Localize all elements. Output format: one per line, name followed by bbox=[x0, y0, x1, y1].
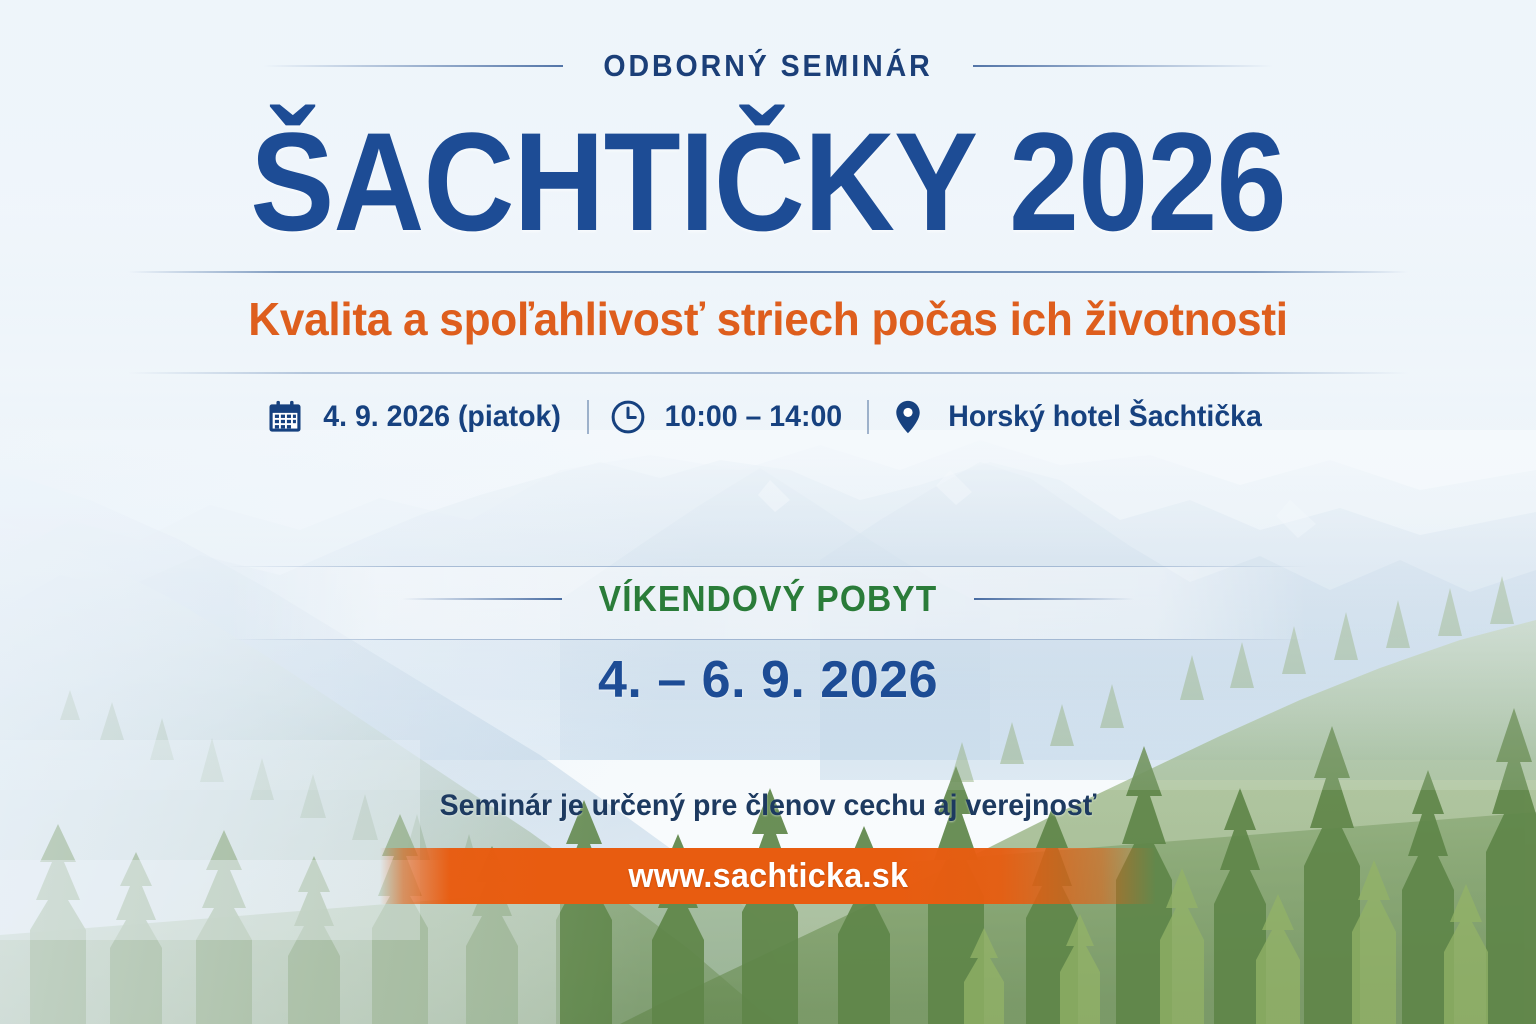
poster-content: ODBORNÝ SEMINÁR ŠACHTIČKY 2026 Kvalita a… bbox=[0, 0, 1536, 1024]
weekend-label-row: VÍKENDOVÝ POBYT bbox=[0, 578, 1536, 620]
event-date-text: 4. 9. 2026 (piatok) bbox=[323, 400, 561, 434]
page-title: ŠACHTIČKY 2026 bbox=[77, 112, 1459, 252]
event-info-row: 4. 9. 2026 (piatok) 10:00 – 14:00 bbox=[0, 398, 1536, 436]
weekend-dates: 4. – 6. 9. 2026 bbox=[0, 650, 1536, 710]
event-date-item: 4. 9. 2026 (piatok) bbox=[266, 398, 567, 436]
subtitle: Kvalita a spoľahlivosť striech počas ich… bbox=[31, 292, 1506, 346]
clock-icon bbox=[609, 398, 647, 436]
weekend-rule-left bbox=[402, 598, 562, 600]
eyebrow-row: ODBORNÝ SEMINÁR bbox=[0, 48, 1536, 84]
event-time-item: 10:00 – 14:00 bbox=[609, 398, 847, 436]
event-venue-item: Horský hotel Šachtička bbox=[889, 398, 1270, 436]
map-pin-icon bbox=[889, 398, 927, 436]
website-url-text: www.sachticka.sk bbox=[628, 857, 908, 896]
audience-note: Seminár je určený pre členov cechu aj ve… bbox=[38, 789, 1497, 823]
divider-under-title bbox=[128, 271, 1408, 273]
eyebrow-label: ODBORNÝ SEMINÁR bbox=[603, 48, 932, 84]
calendar-icon bbox=[266, 398, 304, 436]
eyebrow-rule-right bbox=[973, 65, 1273, 67]
event-time-text: 10:00 – 14:00 bbox=[665, 400, 842, 434]
weekend-band-bottom-line bbox=[228, 639, 1308, 640]
weekend-rule-right bbox=[974, 598, 1134, 600]
info-separator-1 bbox=[587, 400, 589, 434]
event-poster: ODBORNÝ SEMINÁR ŠACHTIČKY 2026 Kvalita a… bbox=[0, 0, 1536, 1024]
eyebrow-rule-left bbox=[263, 65, 563, 67]
divider-above-info bbox=[128, 372, 1408, 374]
website-url-bar[interactable]: www.sachticka.sk bbox=[380, 848, 1156, 904]
weekend-band-top-line bbox=[228, 566, 1308, 567]
info-separator-2 bbox=[867, 400, 869, 434]
event-venue-text: Horský hotel Šachtička bbox=[948, 400, 1262, 434]
weekend-label: VÍKENDOVÝ POBYT bbox=[599, 578, 938, 620]
